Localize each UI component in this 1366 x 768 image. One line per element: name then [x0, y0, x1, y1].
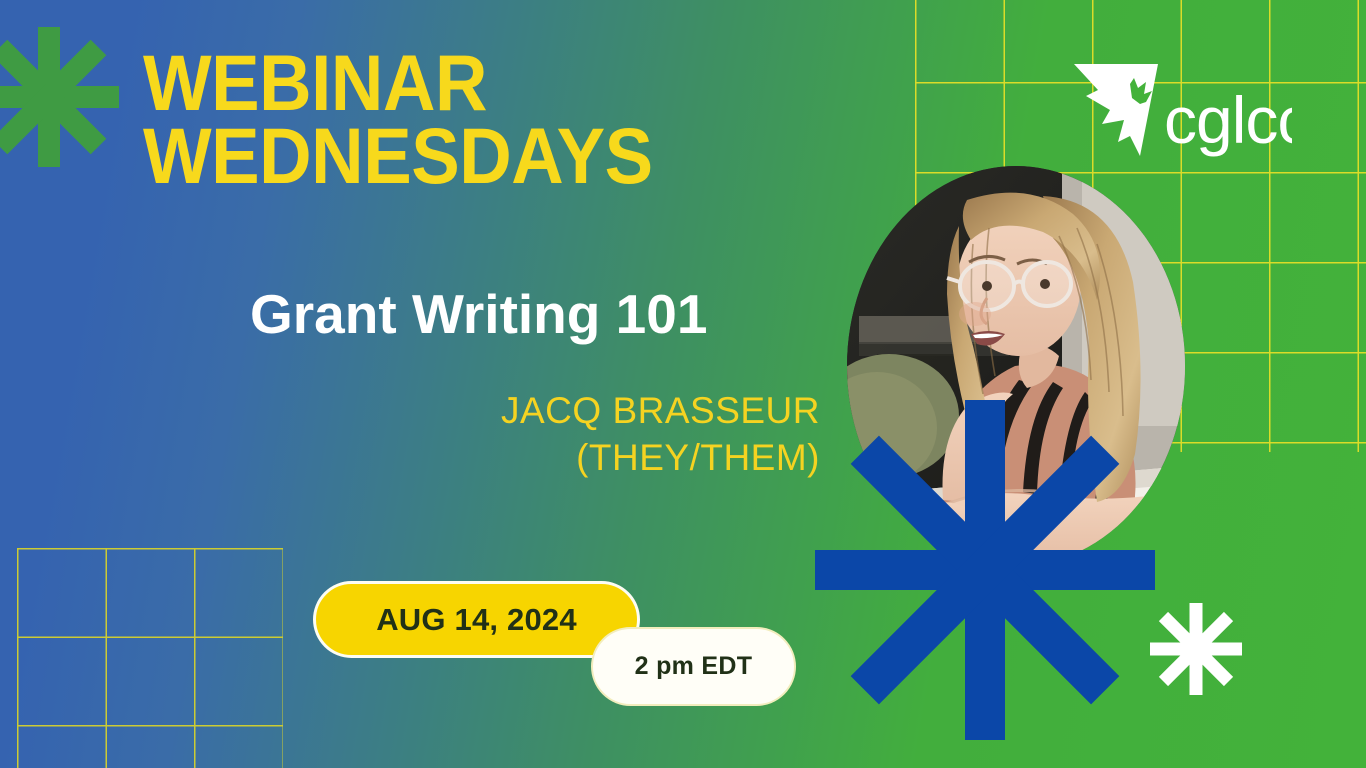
asterisk-icon-blue	[985, 420, 1325, 760]
time-badge: 2 pm EDT	[591, 627, 796, 706]
cglcc-logo: cglcc	[1072, 58, 1292, 158]
speaker-credit: JACQ BRASSEUR (THEY/THEM)	[300, 388, 820, 482]
webinar-subject-title: Grant Writing 101	[250, 282, 707, 346]
headline-line-2: WEDNESDAYS	[143, 119, 653, 192]
speaker-name: JACQ BRASSEUR	[300, 388, 820, 435]
headline-line-1: WEBINAR	[143, 46, 653, 119]
grid-pattern-left	[17, 548, 283, 768]
svg-text:cglcc: cglcc	[1164, 83, 1292, 157]
page-title: WEBINAR WEDNESDAYS	[143, 46, 653, 193]
maple-leaf-triangle-icon	[1074, 64, 1158, 156]
speaker-pronouns: (THEY/THEM)	[300, 435, 820, 482]
webinar-promo-poster: WEBINAR WEDNESDAYS Grant Writing 101 JAC…	[0, 0, 1366, 768]
time-badge-label: 2 pm EDT	[635, 652, 753, 681]
date-badge-label: AUG 14, 2024	[376, 602, 577, 638]
date-badge: AUG 14, 2024	[313, 581, 640, 658]
asterisk-icon-white	[1196, 609, 1288, 701]
